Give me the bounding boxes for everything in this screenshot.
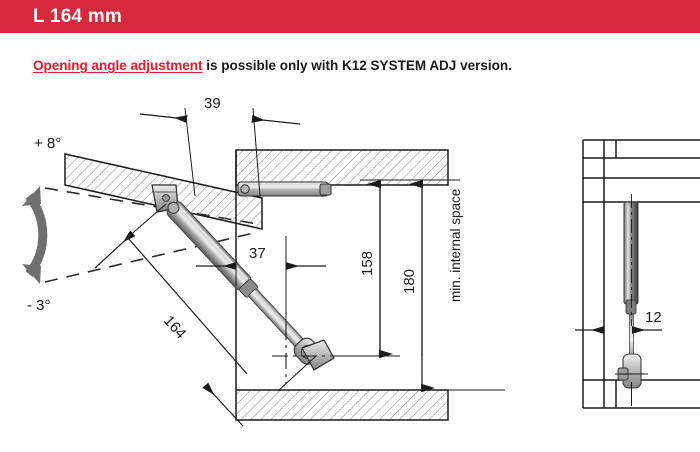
angle-upper-label: + 8°: [34, 135, 61, 152]
front-strut-collar: [626, 300, 636, 314]
subtitle-note: Opening angle adjustment is possible onl…: [33, 58, 512, 74]
header-banner: L 164 mm: [0, 0, 700, 33]
dimension-180-label: 180: [401, 269, 418, 294]
top-mounting-bracket: [238, 182, 331, 196]
drawing-canvas: + 8° - 3°: [0, 86, 700, 452]
dimension-158-label: 158: [359, 251, 376, 276]
page-title: L 164 mm: [33, 6, 122, 27]
front-bottom-rails: [583, 380, 700, 408]
dimension-12: 12: [575, 309, 662, 338]
min-internal-space-note: min. internal space: [448, 189, 463, 302]
strut-rod: [248, 288, 305, 348]
front-top-rails: [583, 140, 700, 202]
subtitle-rest: is possible only with K12 SYSTEM ADJ ver…: [203, 58, 512, 73]
dimension-164-label: 164: [160, 312, 189, 342]
front-side-panel: [583, 140, 604, 408]
subtitle-highlight: Opening angle adjustment: [33, 58, 203, 73]
angle-lower-label: - 3°: [27, 297, 51, 314]
dimension-39-label: 39: [204, 95, 221, 112]
dimension-37-label: 37: [249, 245, 266, 262]
front-view-group: 12: [575, 140, 700, 408]
swing-range-arrow: [22, 186, 43, 284]
cabinet-bottom-panel: [236, 390, 448, 420]
front-strut-cylinder: [624, 202, 638, 304]
side-view-group: + 8° - 3°: [22, 95, 505, 426]
dimension-158: 158: [338, 180, 460, 356]
technical-drawing-page: L 164 mm Opening angle adjustment is pos…: [0, 0, 700, 452]
dimension-12-label: 12: [645, 309, 662, 326]
